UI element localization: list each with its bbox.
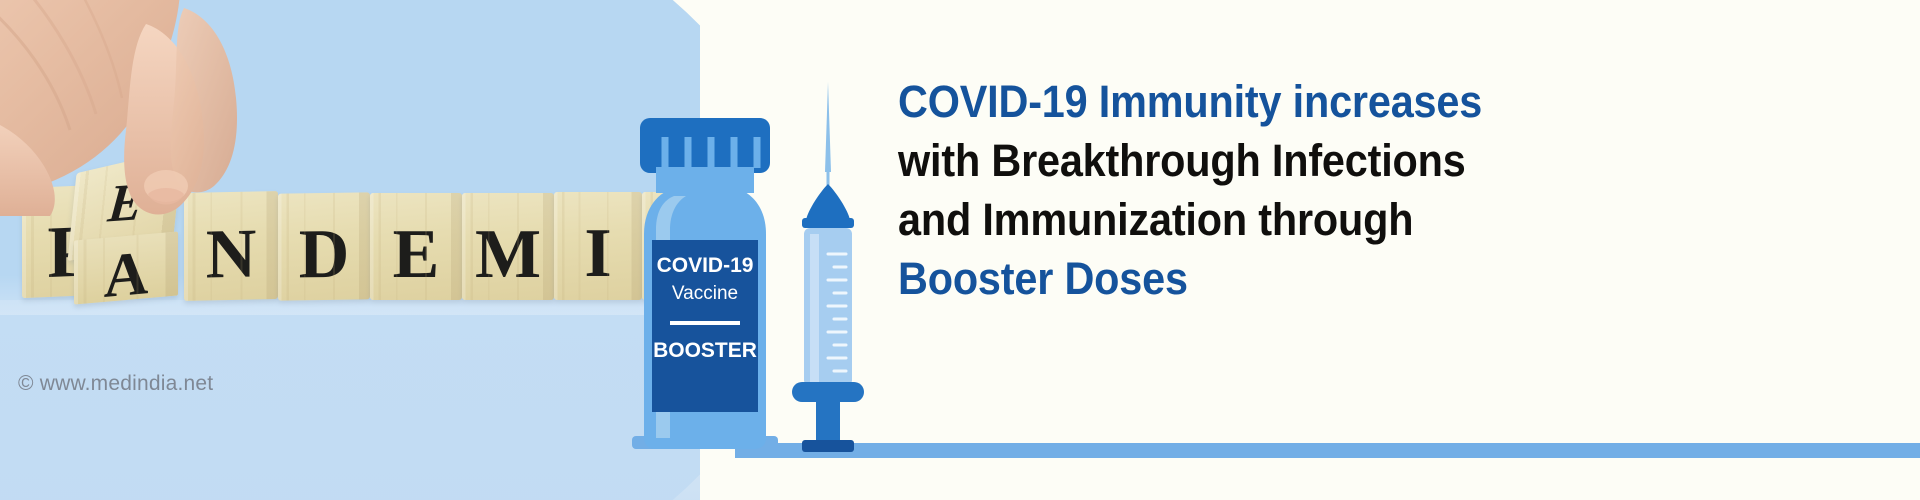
syringe-flange — [792, 382, 864, 402]
copyright-watermark: © www.medindia.net — [18, 372, 213, 396]
vial-cap — [640, 118, 770, 173]
vial-label-title: COVID-19 — [657, 254, 754, 277]
syringe-illustration — [788, 80, 868, 455]
wooden-block-m: M — [462, 193, 554, 300]
syringe-barrel-highlight — [810, 234, 819, 382]
pandemic-photo-panel: P E A N D E — [0, 0, 700, 500]
medindia-covid-banner: P E A N D E — [0, 0, 1920, 500]
headline-block: COVID-19 Immunity increases with Breakth… — [898, 72, 1898, 308]
headline-line-1: COVID-19 Immunity increases — [898, 72, 1818, 131]
wooden-block-i: I — [554, 192, 642, 300]
syringe-hub — [806, 184, 850, 220]
syringe-plunger-thumbrest — [802, 440, 854, 452]
headline-line-2: with Breakthrough Infections — [898, 131, 1818, 190]
hand-illustration — [0, 0, 450, 280]
headline-line-3: and Immunization through — [898, 190, 1818, 249]
vial-label-footer: BOOSTER — [653, 339, 757, 362]
syringe-hub-collar — [802, 218, 854, 228]
table-surface-shading — [0, 300, 700, 500]
vaccine-vial-illustration: COVID-19 Vaccine BOOSTER — [630, 118, 780, 453]
syringe-plunger-rod — [816, 400, 840, 444]
block-letter: M — [475, 220, 541, 290]
middle-finger — [171, 8, 237, 192]
headline-line-4: Booster Doses — [898, 249, 1818, 308]
vial-label-subtitle: Vaccine — [672, 283, 738, 304]
block-letter: I — [584, 219, 611, 289]
blue-ground-bar — [735, 443, 1920, 458]
syringe-needle — [825, 82, 831, 172]
